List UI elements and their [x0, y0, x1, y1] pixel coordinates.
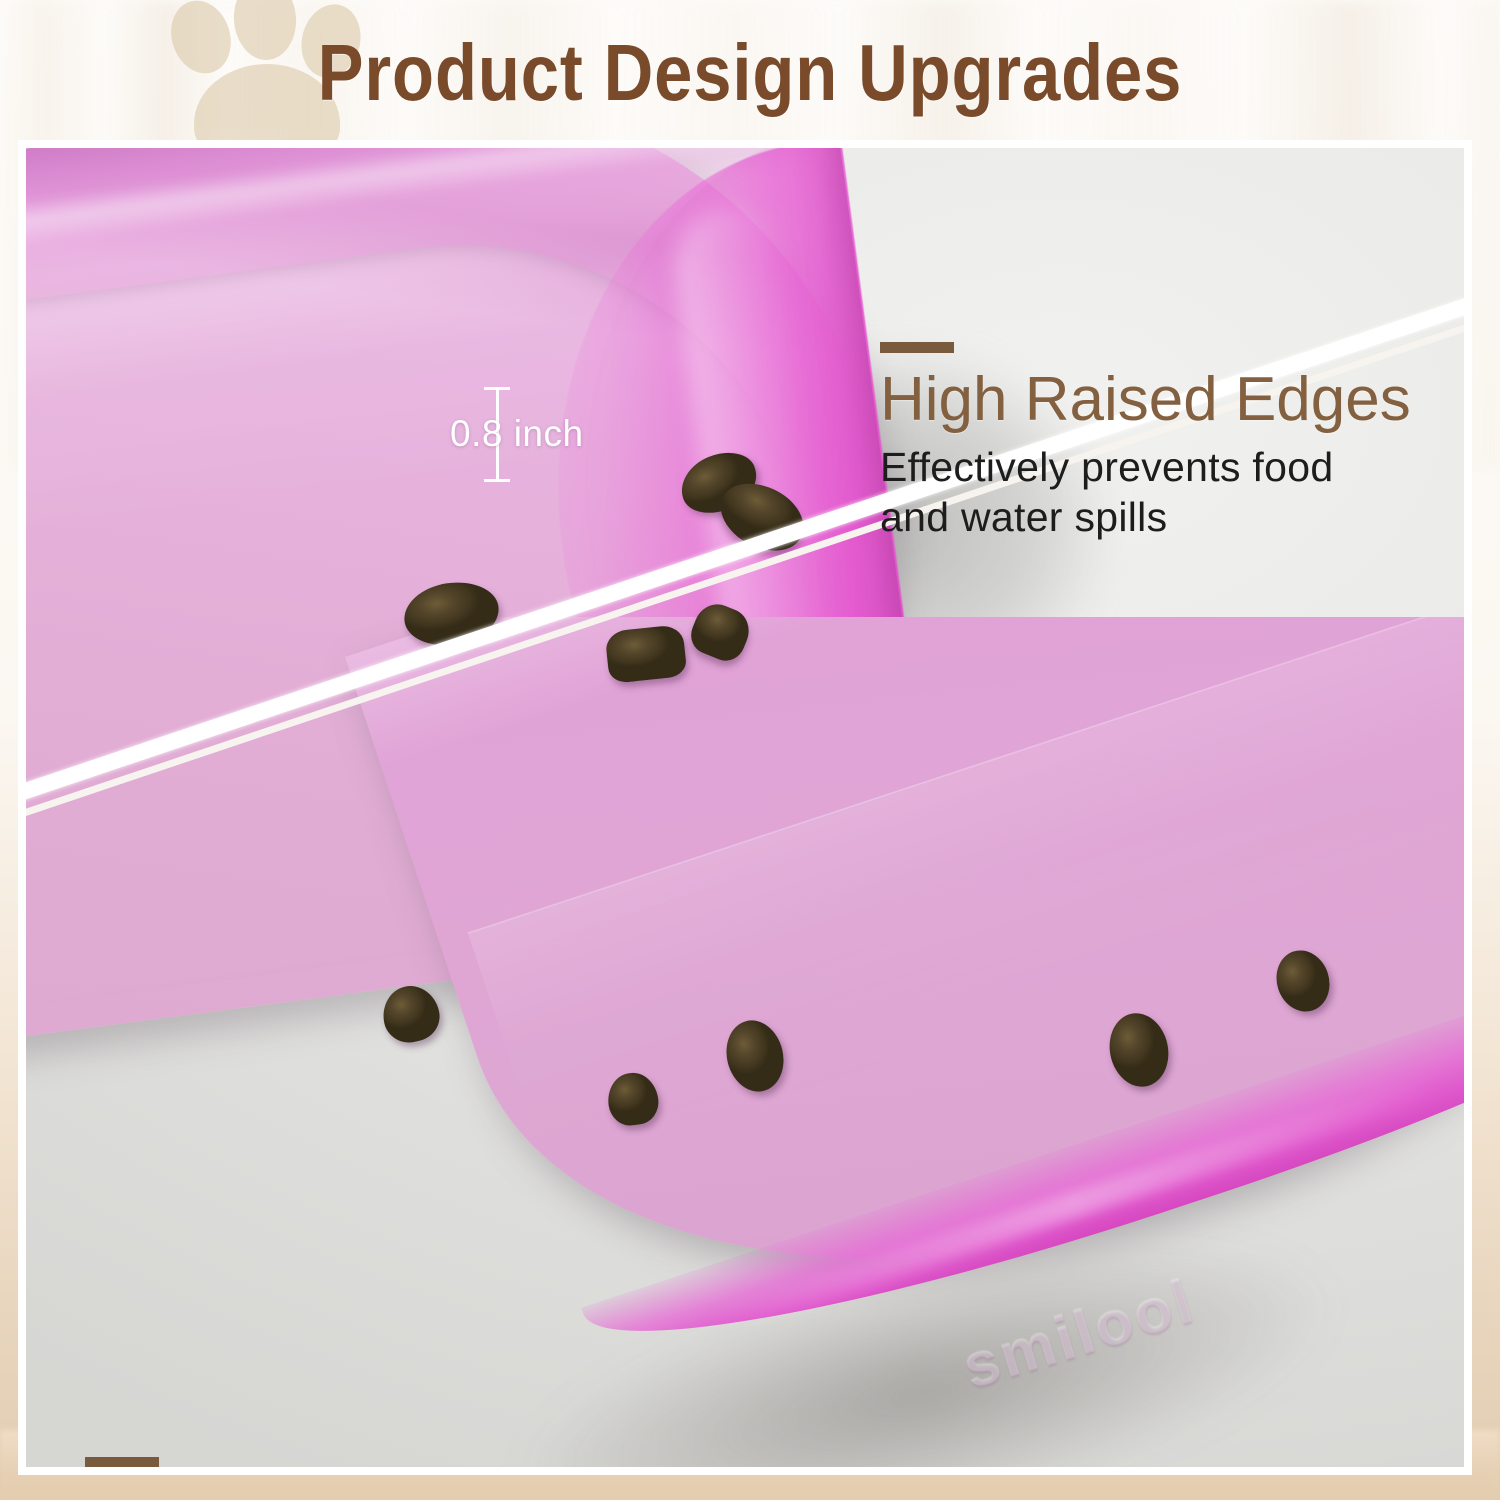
accent-bar [880, 342, 954, 353]
feature-subtitle-line2: and water spills [880, 492, 1411, 542]
product-infographic: Product Design Upgrades 0.8 inch [0, 0, 1500, 1500]
dimension-cap-bottom [484, 479, 510, 482]
feature-subtitle-line1: Effectively prevents food [880, 442, 1411, 492]
accent-bar [85, 1457, 159, 1468]
pet-mat-flat-wrap [325, 617, 1465, 1468]
feature-high-raised-edges: High Raised Edges Effectively prevents f… [880, 342, 1411, 542]
dimension-annotation: 0.8 inch [470, 375, 650, 495]
feature-keeping-floor-clean: Keeping the floor clean Minimizes time s… [85, 1457, 967, 1468]
kibble-piece [604, 624, 687, 684]
page-title: Product Design Upgrades [105, 0, 1395, 146]
product-photo-panel: 0.8 inch smilool High Raised Edges Ef [25, 147, 1465, 1468]
feature-subtitle: Effectively prevents food and water spil… [880, 442, 1411, 542]
feature-heading: High Raised Edges [880, 367, 1411, 432]
dimension-label: 0.8 inch [450, 413, 584, 455]
header: Product Design Upgrades [0, 0, 1500, 146]
